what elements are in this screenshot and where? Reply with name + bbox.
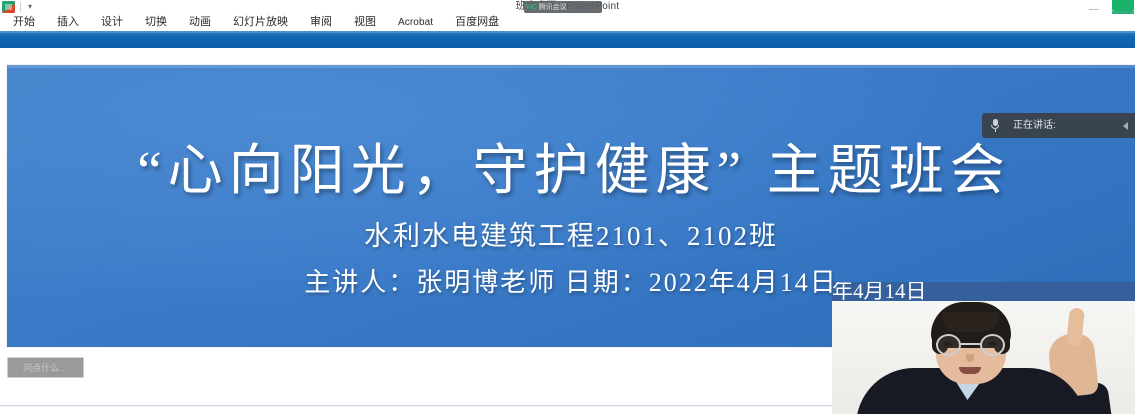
tencent-meeting-floating-bar[interactable]: ViC 腾讯会议 bbox=[524, 1, 602, 13]
powerpoint-window: ▾ 班会桌面 - PowerPoint ViC 腾讯会议 开始 插入 设计 切换… bbox=[0, 0, 1135, 414]
speaker-eye-right bbox=[988, 342, 996, 346]
ribbon-tab-baidu-netdisk[interactable]: 百度网盘 bbox=[444, 14, 510, 31]
meeting-logo-icon: ViC bbox=[526, 4, 537, 11]
ribbon-band-highlight bbox=[0, 31, 1135, 33]
slide-title: “心向阳光，守护健康” 主题班会 bbox=[7, 143, 1135, 198]
title-bar: ▾ 班会桌面 - PowerPoint ViC 腾讯会议 bbox=[0, 0, 1135, 14]
ribbon-tab-design[interactable]: 设计 bbox=[90, 14, 134, 31]
ribbon-tab-home[interactable]: 开始 bbox=[2, 14, 46, 31]
speaker-mouth bbox=[959, 367, 981, 374]
speaker-video-feed[interactable]: 年4月14日 bbox=[832, 282, 1135, 414]
ribbon-tab-insert[interactable]: 插入 bbox=[46, 14, 90, 31]
meeting-green-tab[interactable] bbox=[1112, 0, 1134, 11]
ribbon-tab-strip[interactable]: 开始 插入 设计 切换 动画 幻灯片放映 审阅 视图 Acrobat 百度网盘 bbox=[0, 14, 1135, 31]
collapse-left-arrow-icon[interactable] bbox=[1123, 122, 1128, 130]
ribbon-tab-view[interactable]: 视图 bbox=[343, 14, 387, 31]
minimize-button[interactable] bbox=[1085, 1, 1103, 15]
microphone-icon bbox=[991, 119, 999, 132]
slide-subtitle-class: 水利水电建筑工程2101、2102班 bbox=[7, 223, 1135, 250]
glasses-bridge bbox=[961, 343, 980, 345]
video-background-top: 年4月14日 bbox=[832, 282, 1135, 301]
speaking-status-overlay[interactable]: 正在讲话: bbox=[982, 113, 1135, 138]
ribbon-tab-animations[interactable]: 动画 bbox=[178, 14, 222, 31]
ribbon-tab-acrobat[interactable]: Acrobat bbox=[387, 14, 444, 31]
ribbon-tab-transitions[interactable]: 切换 bbox=[134, 14, 178, 31]
meeting-label: 腾讯会议 bbox=[539, 4, 567, 11]
video-overlap-slide-text: 年4月14日 bbox=[832, 282, 952, 301]
ask-search-box[interactable]: 问点什么… bbox=[7, 357, 84, 378]
ribbon-accent-band bbox=[0, 31, 1135, 48]
ribbon-tab-review[interactable]: 审阅 bbox=[299, 14, 343, 31]
speaker-nose bbox=[966, 354, 974, 362]
ask-search-placeholder: 问点什么… bbox=[23, 361, 68, 374]
speaking-status-label: 正在讲话: bbox=[1013, 121, 1056, 131]
ribbon-tab-slideshow[interactable]: 幻灯片放映 bbox=[222, 14, 299, 31]
speaker-eye-left bbox=[944, 342, 952, 346]
